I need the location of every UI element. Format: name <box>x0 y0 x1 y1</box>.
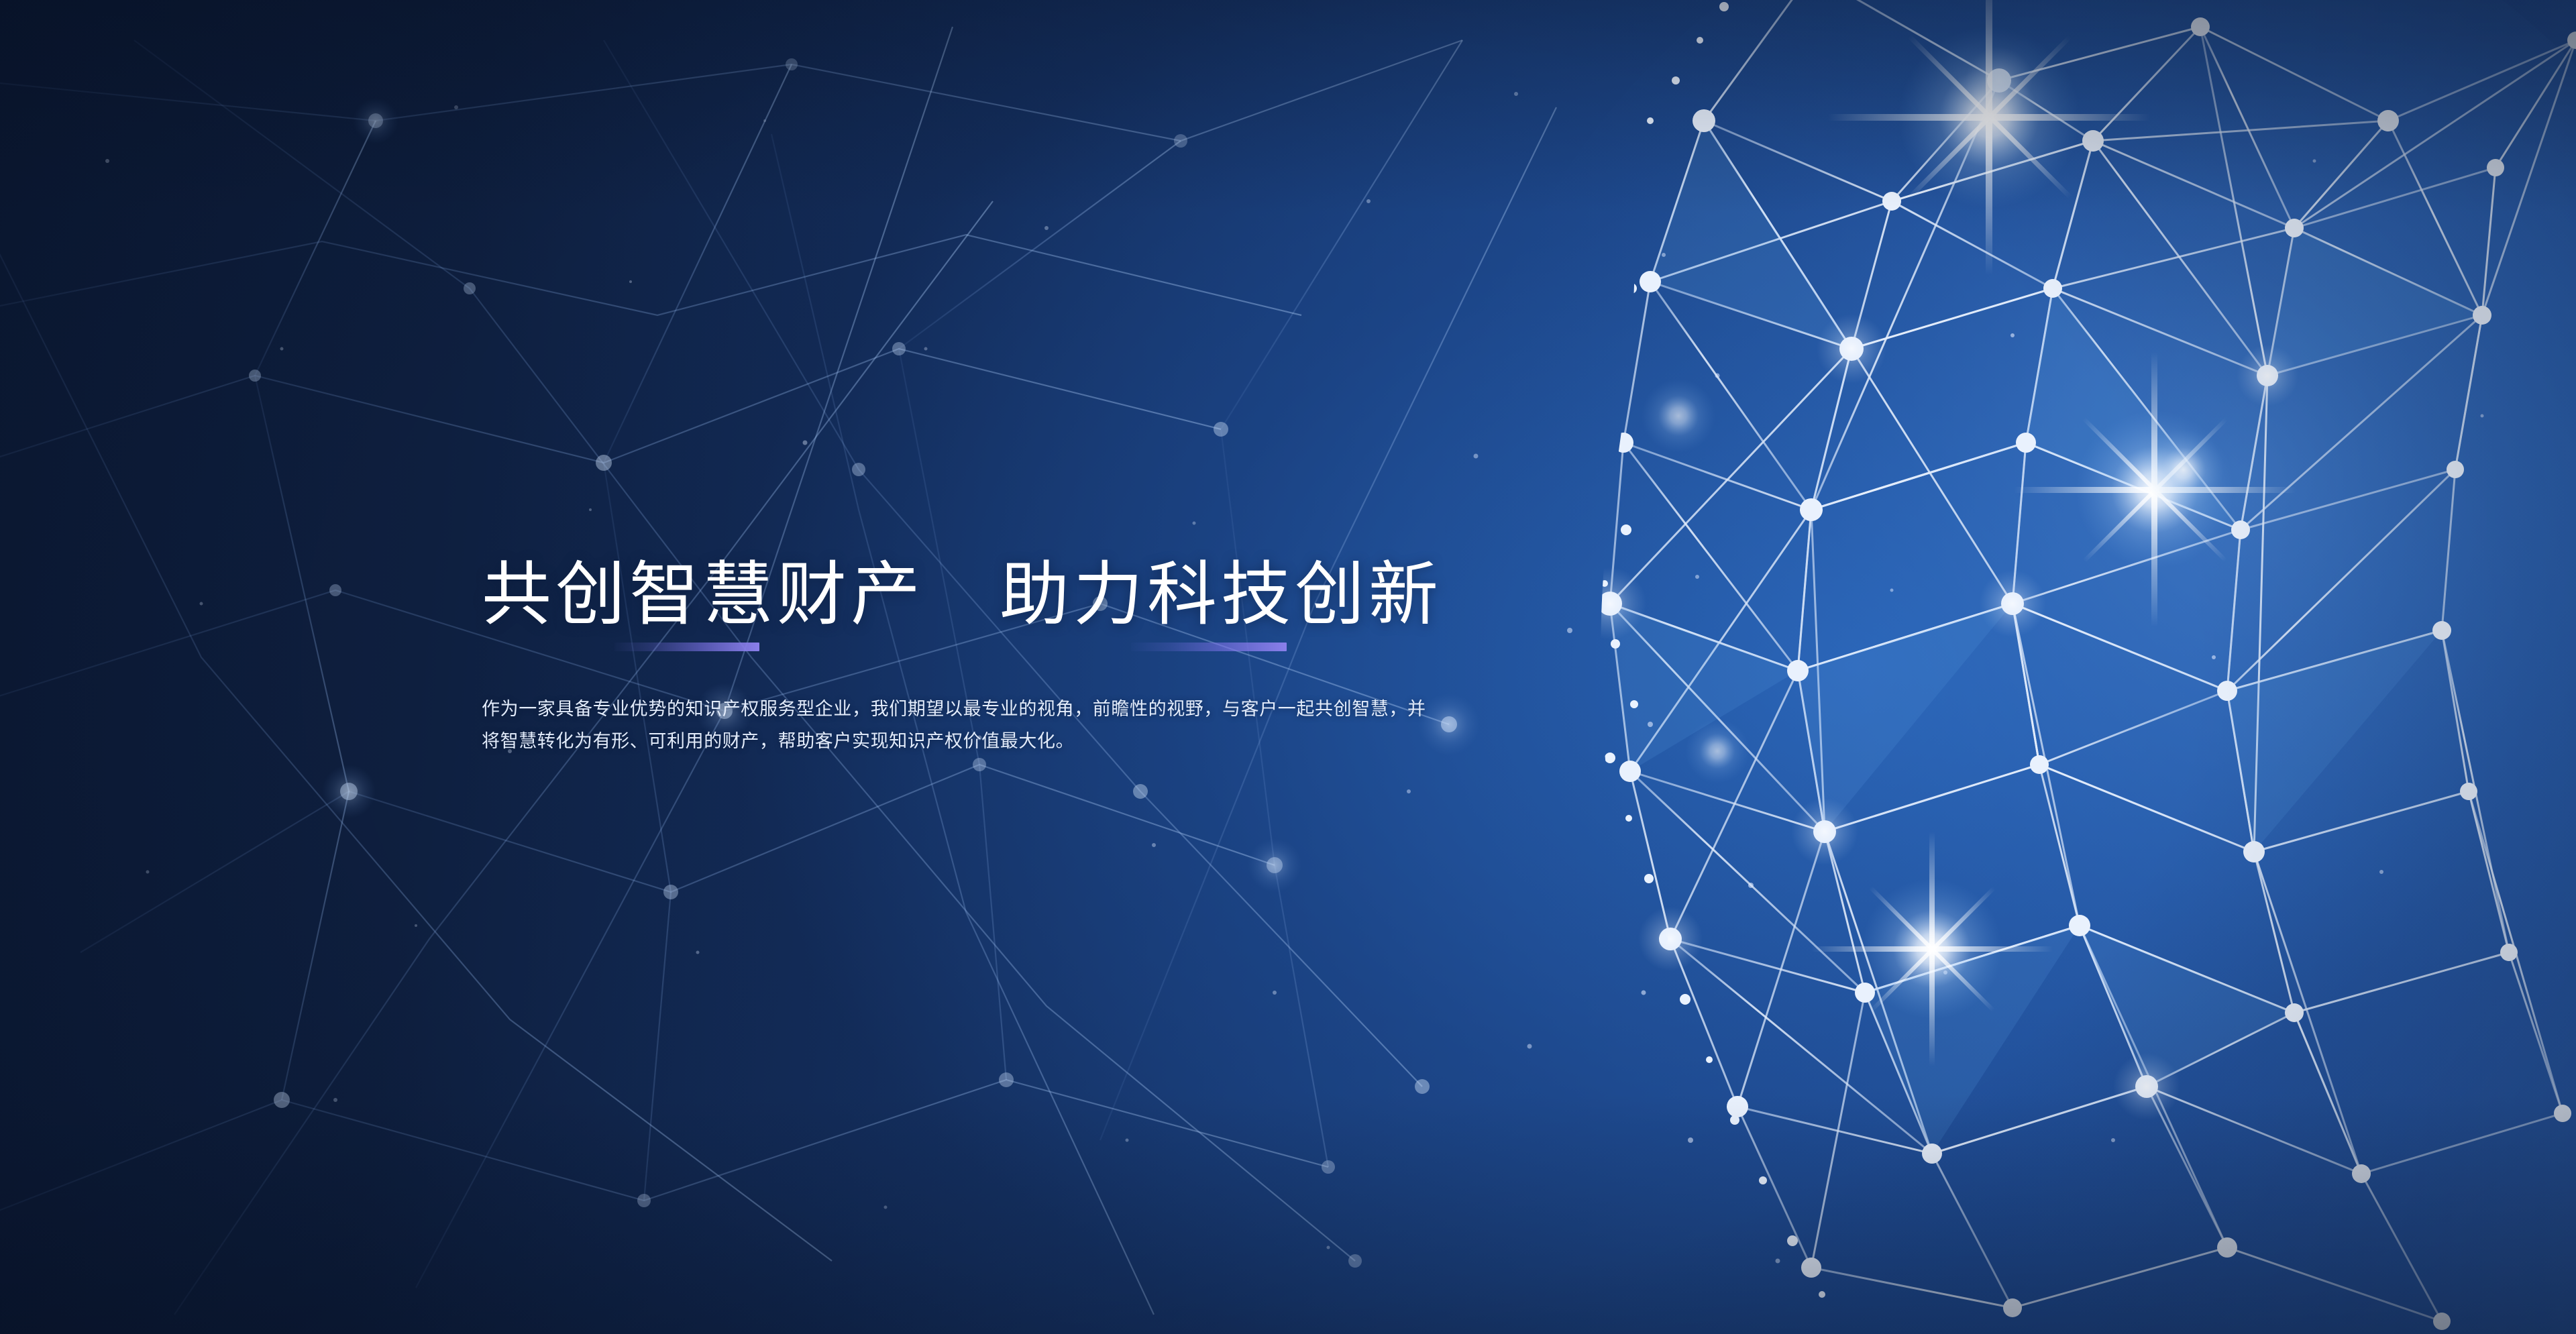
headline-segment-1: 共创智慧财产 <box>482 555 924 651</box>
headline-text-1: 共创智慧财产 <box>482 555 924 634</box>
hero-copy-block: 共创智慧财产 助力科技创新 作为一家具备专业优势的知识产权服务型企业，我们期望以… <box>482 555 1434 775</box>
headline-underline-accent-2 <box>1131 643 1287 651</box>
page-title: 共创智慧财产 助力科技创新 <box>482 555 1434 651</box>
headline-underline-accent-1 <box>614 643 759 651</box>
hero-banner: 共创智慧财产 助力科技创新 作为一家具备专业优势的知识产权服务型企业，我们期望以… <box>0 0 2576 1334</box>
hero-description-text: 作为一家具备专业优势的知识产权服务型企业，我们期望以最专业的视角，前瞻性的视野，… <box>482 693 1428 757</box>
headline-text-2: 助力科技创新 <box>1000 555 1442 634</box>
headline-segment-2: 助力科技创新 <box>1000 555 1442 651</box>
